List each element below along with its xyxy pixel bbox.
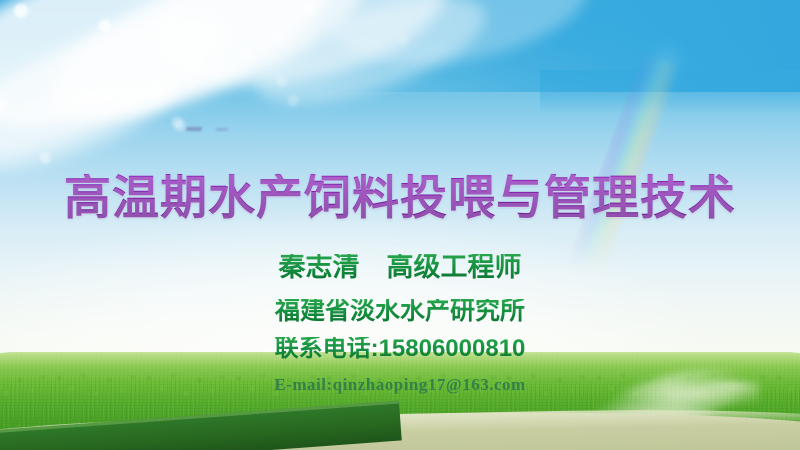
slide-text-layer: 高温期水产饲料投喂与管理技术 高温期水产饲料投喂与管理技术 秦志清 高级工程师 … (0, 0, 800, 450)
presentation-slide: 高温期水产饲料投喂与管理技术 高温期水产饲料投喂与管理技术 秦志清 高级工程师 … (0, 0, 800, 450)
slide-title: 高温期水产饲料投喂与管理技术 (0, 174, 800, 221)
contact-email: E-mail:qinzhaoping17@163.com (0, 376, 800, 393)
presenter-name-and-rank: 秦志清 高级工程师 (0, 254, 800, 281)
institute-name: 福建省淡水水产研究所 (0, 299, 800, 324)
contact-phone: 联系电话:15806000810 (0, 337, 800, 361)
